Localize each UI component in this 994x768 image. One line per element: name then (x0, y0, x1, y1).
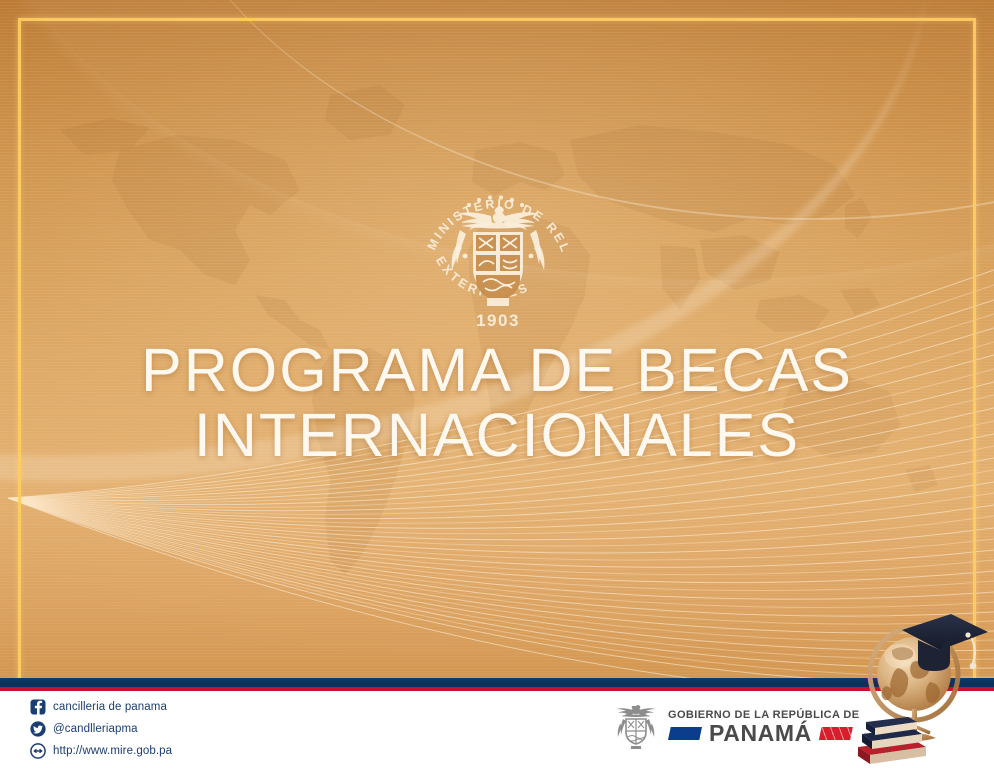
coat-of-arms-panama-icon (614, 702, 658, 752)
page-title: PROGRAMA DE BECAS INTERNACIONALES (0, 338, 994, 467)
title-line-1: PROGRAMA DE BECAS (0, 338, 994, 403)
gov-line-2: PANAMÁ (709, 722, 812, 745)
website-icon (30, 743, 46, 759)
twitter-icon (30, 721, 46, 737)
social-item-website[interactable]: http://www.mire.gob.pa (30, 741, 172, 761)
social-item-facebook[interactable]: cancilleria de panama (30, 697, 172, 717)
slide-root: MINISTERIO DE RELACIONES EXTERIORES (0, 0, 994, 768)
divider-bar-white (0, 691, 994, 694)
slide-background: MINISTERIO DE RELACIONES EXTERIORES (0, 0, 994, 690)
social-links: cancilleria de panama @candlleriapma (30, 697, 172, 763)
flag-bar-blue-icon (668, 727, 702, 740)
facebook-icon (30, 699, 46, 715)
social-label-facebook: cancilleria de panama (53, 701, 167, 713)
social-label-twitter: @candlleriapma (53, 723, 138, 735)
social-item-twitter[interactable]: @candlleriapma (30, 719, 172, 739)
government-logo: GOBIERNO DE LA REPÚBLICA DE PANAMÁ (614, 702, 860, 752)
government-logo-text: GOBIERNO DE LA REPÚBLICA DE PANAMÁ (668, 709, 860, 745)
svg-text:1903: 1903 (476, 311, 520, 330)
scholarship-artwork (856, 604, 994, 768)
divider-bar-navy (0, 678, 994, 687)
gov-line-2-row: PANAMÁ (668, 722, 853, 745)
ministry-seal: MINISTERIO DE RELACIONES EXTERIORES (413, 148, 583, 338)
title-line-2: INTERNACIONALES (0, 403, 994, 468)
flag-bar-red-icon (819, 727, 853, 740)
social-label-website: http://www.mire.gob.pa (53, 745, 172, 757)
